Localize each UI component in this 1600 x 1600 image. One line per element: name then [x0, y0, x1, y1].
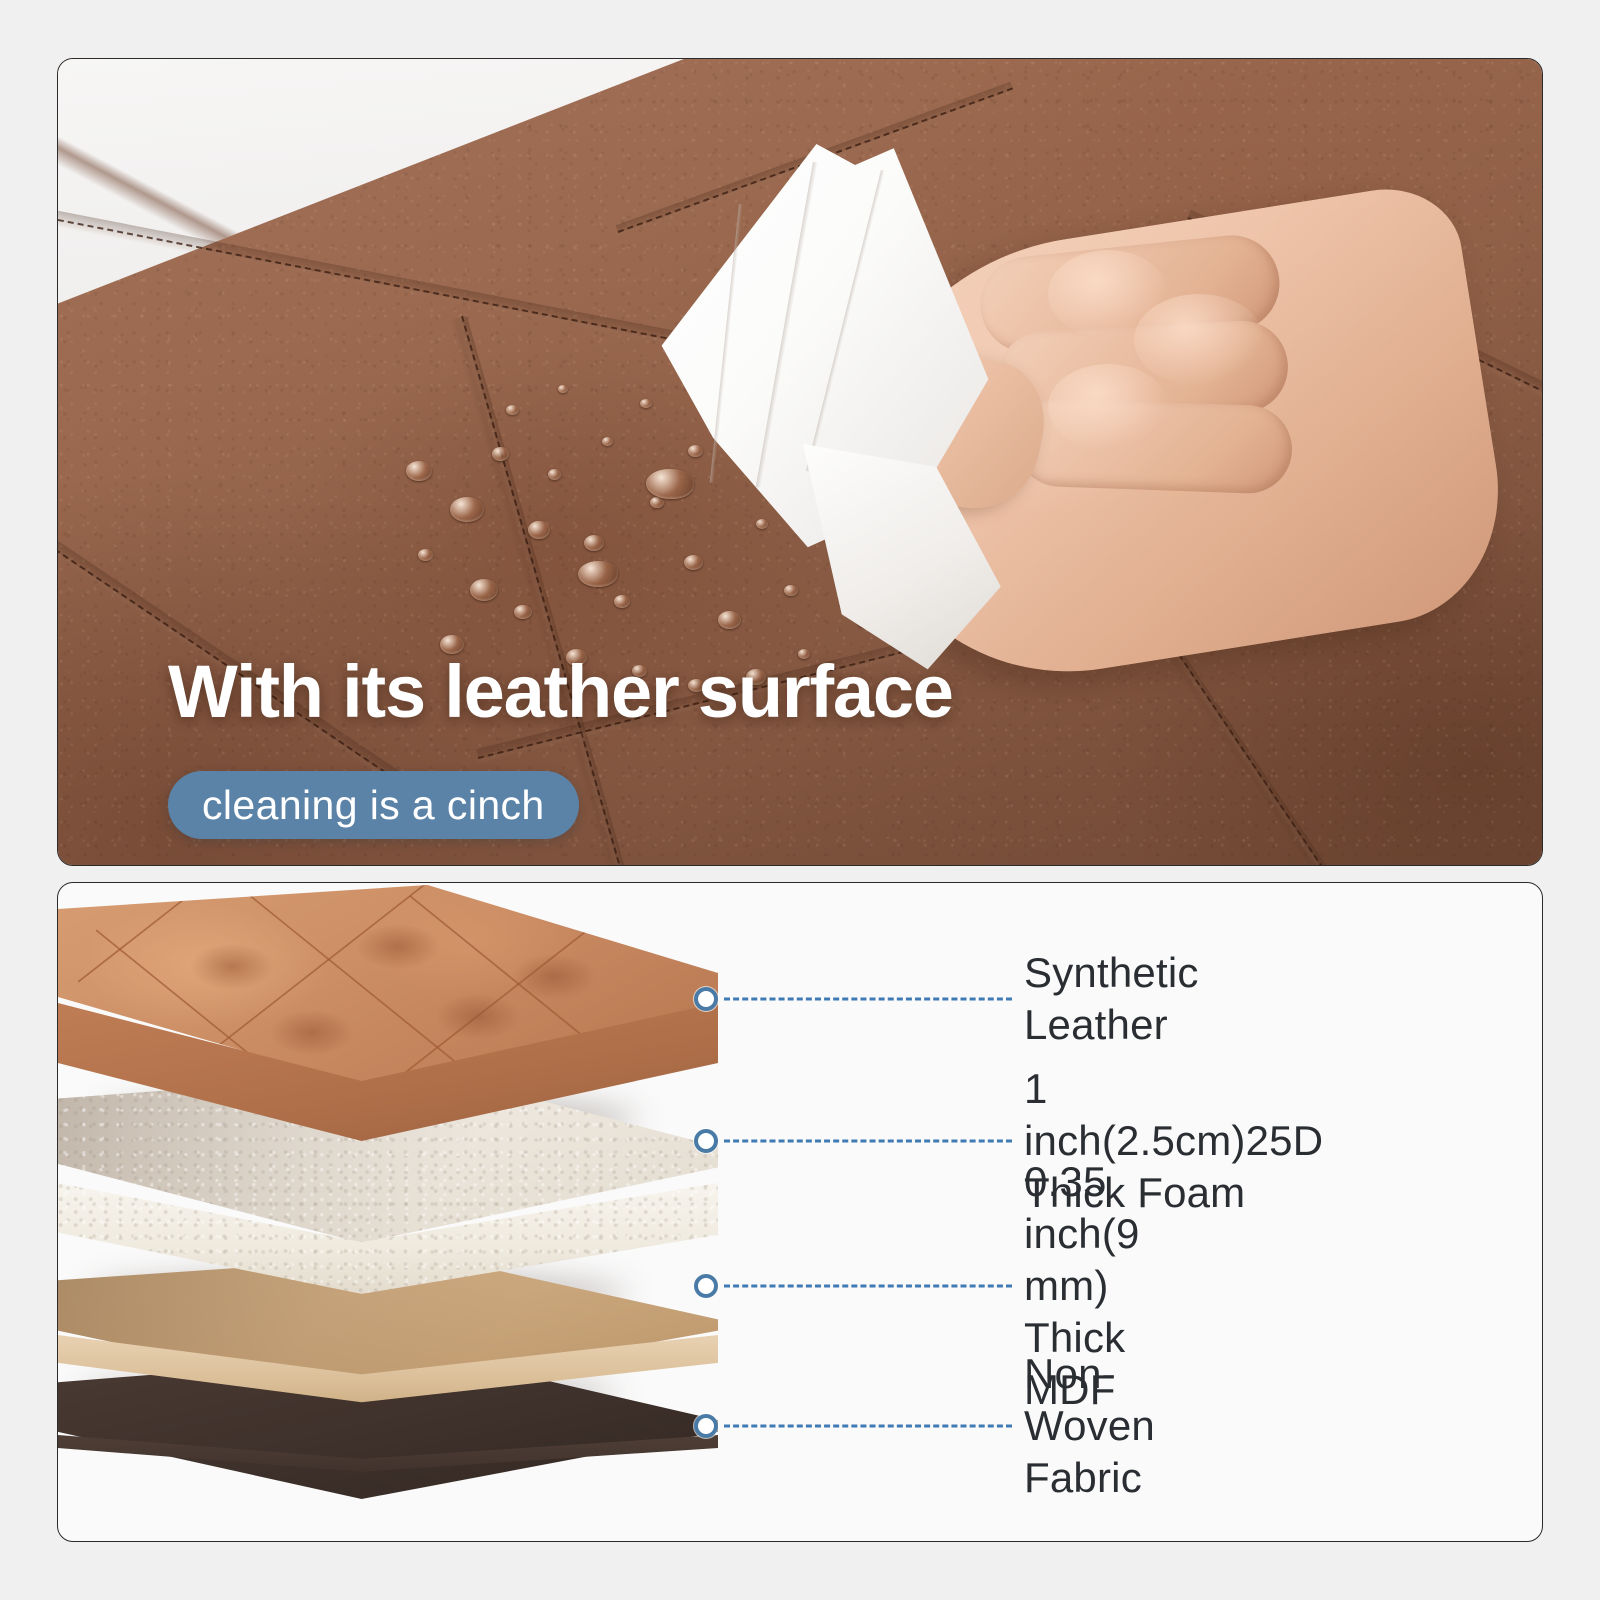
callout-label-non-woven-fabric: Non-Woven Fabric	[1024, 1348, 1155, 1504]
callout-marker-icon	[694, 987, 718, 1011]
exploded-layer-construction-panel: Synthetic Leather 1 inch(2.5cm)25D Thick…	[57, 882, 1543, 1542]
callout-marker-icon	[694, 1129, 718, 1153]
tissue-icon	[653, 144, 1083, 564]
leader-line	[724, 1140, 1012, 1143]
callout-marker-icon	[694, 1274, 718, 1298]
status-badge: cleaning is a cinch	[168, 771, 579, 839]
leader-line	[724, 998, 1012, 1001]
leader-line	[724, 1425, 1012, 1428]
callout-label-synthetic-leather: Synthetic Leather	[1024, 947, 1199, 1051]
layer-callouts: Synthetic Leather 1 inch(2.5cm)25D Thick…	[58, 883, 1543, 1542]
status-badge-label: cleaning is a cinch	[202, 782, 545, 829]
leather-cleaning-photo-panel: With its leather surface cleaning is a c…	[57, 58, 1543, 866]
callout-marker-icon	[694, 1414, 718, 1438]
page-title: With its leather surface	[168, 655, 953, 729]
infographic-page: With its leather surface cleaning is a c…	[0, 0, 1600, 1600]
leader-line	[724, 1285, 1012, 1288]
